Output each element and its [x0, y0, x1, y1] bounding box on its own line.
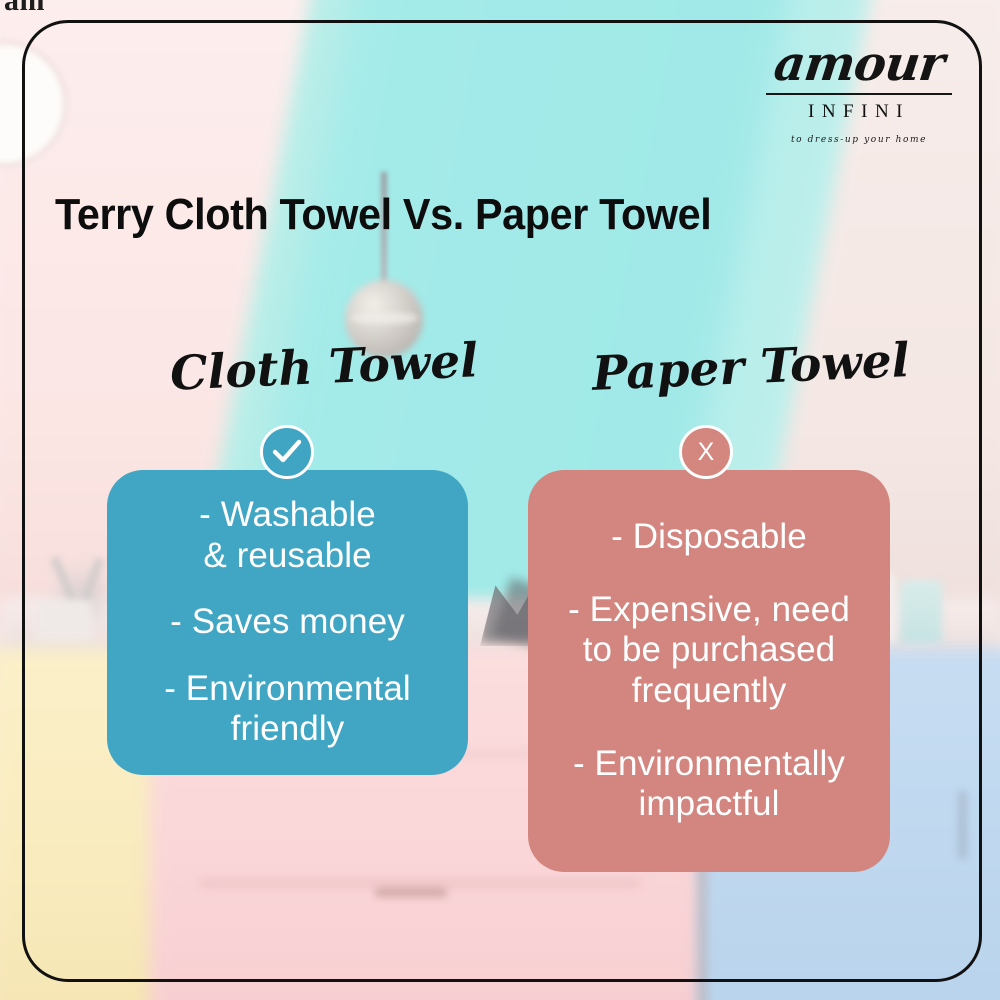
logo-brand-text: amour	[751, 40, 967, 88]
card-paper-towel: - Disposable - Expensive, need to be pur…	[528, 470, 890, 872]
background-pendant-ring	[350, 312, 418, 324]
logo-name-text: INFINI	[754, 101, 964, 123]
bullet-line: - Saves money	[125, 602, 450, 643]
bullet-line: - Washable	[125, 495, 450, 536]
background-drawer-seam	[200, 880, 640, 886]
bullet-line: - Expensive, need	[546, 590, 872, 631]
brand-logo: amour INFINI to dress-up your home	[754, 40, 964, 145]
infographic-canvas: am amour INFINI to dress-up your home Te…	[0, 0, 1000, 1000]
background-cabinet-handle	[958, 790, 967, 860]
list-item: - Disposable	[546, 517, 872, 558]
list-item: - Washable & reusable	[125, 495, 450, 576]
list-item: - Environmental friendly	[125, 669, 450, 750]
list-item: - Saves money	[125, 602, 450, 643]
list-item: - Expensive, need to be purchased freque…	[546, 590, 872, 712]
bullet-line: to be purchased	[546, 630, 872, 671]
logo-divider	[766, 93, 952, 95]
bullet-line: - Environmental	[125, 669, 450, 710]
bullet-line: & reusable	[125, 536, 450, 577]
list-item: - Environmentally impactful	[546, 744, 872, 825]
clipped-top-text: am	[4, 0, 45, 18]
background-jar	[900, 580, 942, 644]
check-icon	[260, 425, 314, 479]
cross-icon: X	[679, 425, 733, 479]
bullet-line: - Environmentally	[546, 744, 872, 785]
bullet-line: friendly	[125, 709, 450, 750]
bullet-line: frequently	[546, 671, 872, 712]
cross-glyph: X	[698, 440, 715, 465]
bullet-line: - Disposable	[546, 517, 872, 558]
bullet-line: impactful	[546, 784, 872, 825]
page-title: Terry Cloth Towel Vs. Paper Towel	[55, 190, 711, 240]
background-drawer-handle	[375, 888, 447, 897]
logo-tagline: to dress-up your home	[754, 135, 964, 145]
background-cup	[36, 600, 92, 642]
card-cloth-towel: - Washable & reusable - Saves money - En…	[107, 470, 468, 775]
